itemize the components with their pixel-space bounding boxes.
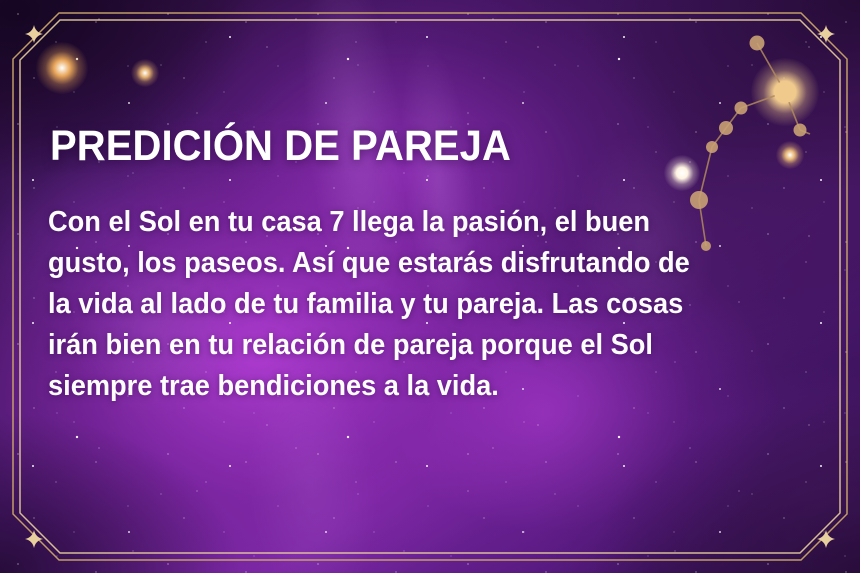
card-content: PREDICIÓN DE PAREJA Con el Sol en tu cas… xyxy=(0,0,860,573)
prediction-body-text: Con el Sol en tu casa 7 llega la pasión,… xyxy=(48,202,755,407)
horoscope-card: PREDICIÓN DE PAREJA Con el Sol en tu cas… xyxy=(0,0,860,573)
body-line-1: Con el Sol en tu casa 7 llega la pasión,… xyxy=(48,202,755,243)
body-line-2: gusto, los paseos. Así que estarás disfr… xyxy=(48,243,755,284)
body-line-4: irán bien en tu relación de pareja porqu… xyxy=(48,325,755,366)
body-line-3: la vida al lado de tu familia y tu parej… xyxy=(48,284,755,325)
body-line-5: siempre trae bendiciones a la vida. xyxy=(48,366,755,407)
page-title: PREDICIÓN DE PAREJA xyxy=(50,121,511,171)
